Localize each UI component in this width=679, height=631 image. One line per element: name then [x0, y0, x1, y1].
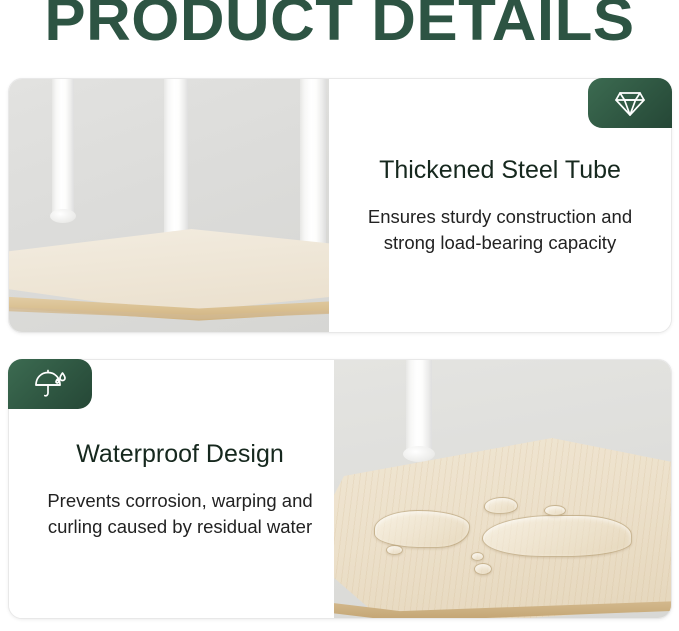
water-droplet-a	[386, 545, 403, 555]
feature-photo-waterproof	[334, 360, 671, 618]
water-puddle-medium	[374, 510, 470, 548]
feature-photo-steel-tube	[9, 79, 346, 332]
callout-arrow-left	[331, 314, 355, 333]
steel-tube-center	[164, 79, 188, 242]
steel-tube-left	[52, 79, 74, 219]
feature-heading: Waterproof Design	[76, 439, 284, 469]
badge-waterproof-design	[8, 359, 92, 409]
steel-tube-left-base	[50, 209, 76, 223]
product-details-infographic: PRODUCT DETAILS Thickened Steel Tube Ens…	[0, 0, 679, 631]
feature-heading: Thickened Steel Tube	[379, 155, 621, 185]
water-droplet-b	[471, 552, 484, 561]
feature-body: Ensures sturdy construction and strong l…	[355, 204, 645, 256]
water-droplet-d	[544, 505, 566, 516]
feature-body: Prevents corrosion, warping and curling …	[35, 488, 325, 540]
feature-card-waterproof-design: Waterproof Design Prevents corrosion, wa…	[8, 359, 672, 619]
water-puddle-small-upper	[484, 497, 518, 514]
steel-tube-base	[403, 446, 435, 462]
steel-tube	[406, 360, 432, 456]
umbrella-rain-icon	[33, 369, 67, 399]
badge-thickened-steel-tube	[588, 78, 672, 128]
water-droplet-c	[474, 563, 492, 575]
page-title: PRODUCT DETAILS	[0, 0, 679, 51]
water-puddle-large	[482, 515, 632, 557]
diamond-icon	[615, 90, 645, 117]
feature-card-thickened-steel-tube: Thickened Steel Tube Ensures sturdy cons…	[8, 78, 672, 333]
